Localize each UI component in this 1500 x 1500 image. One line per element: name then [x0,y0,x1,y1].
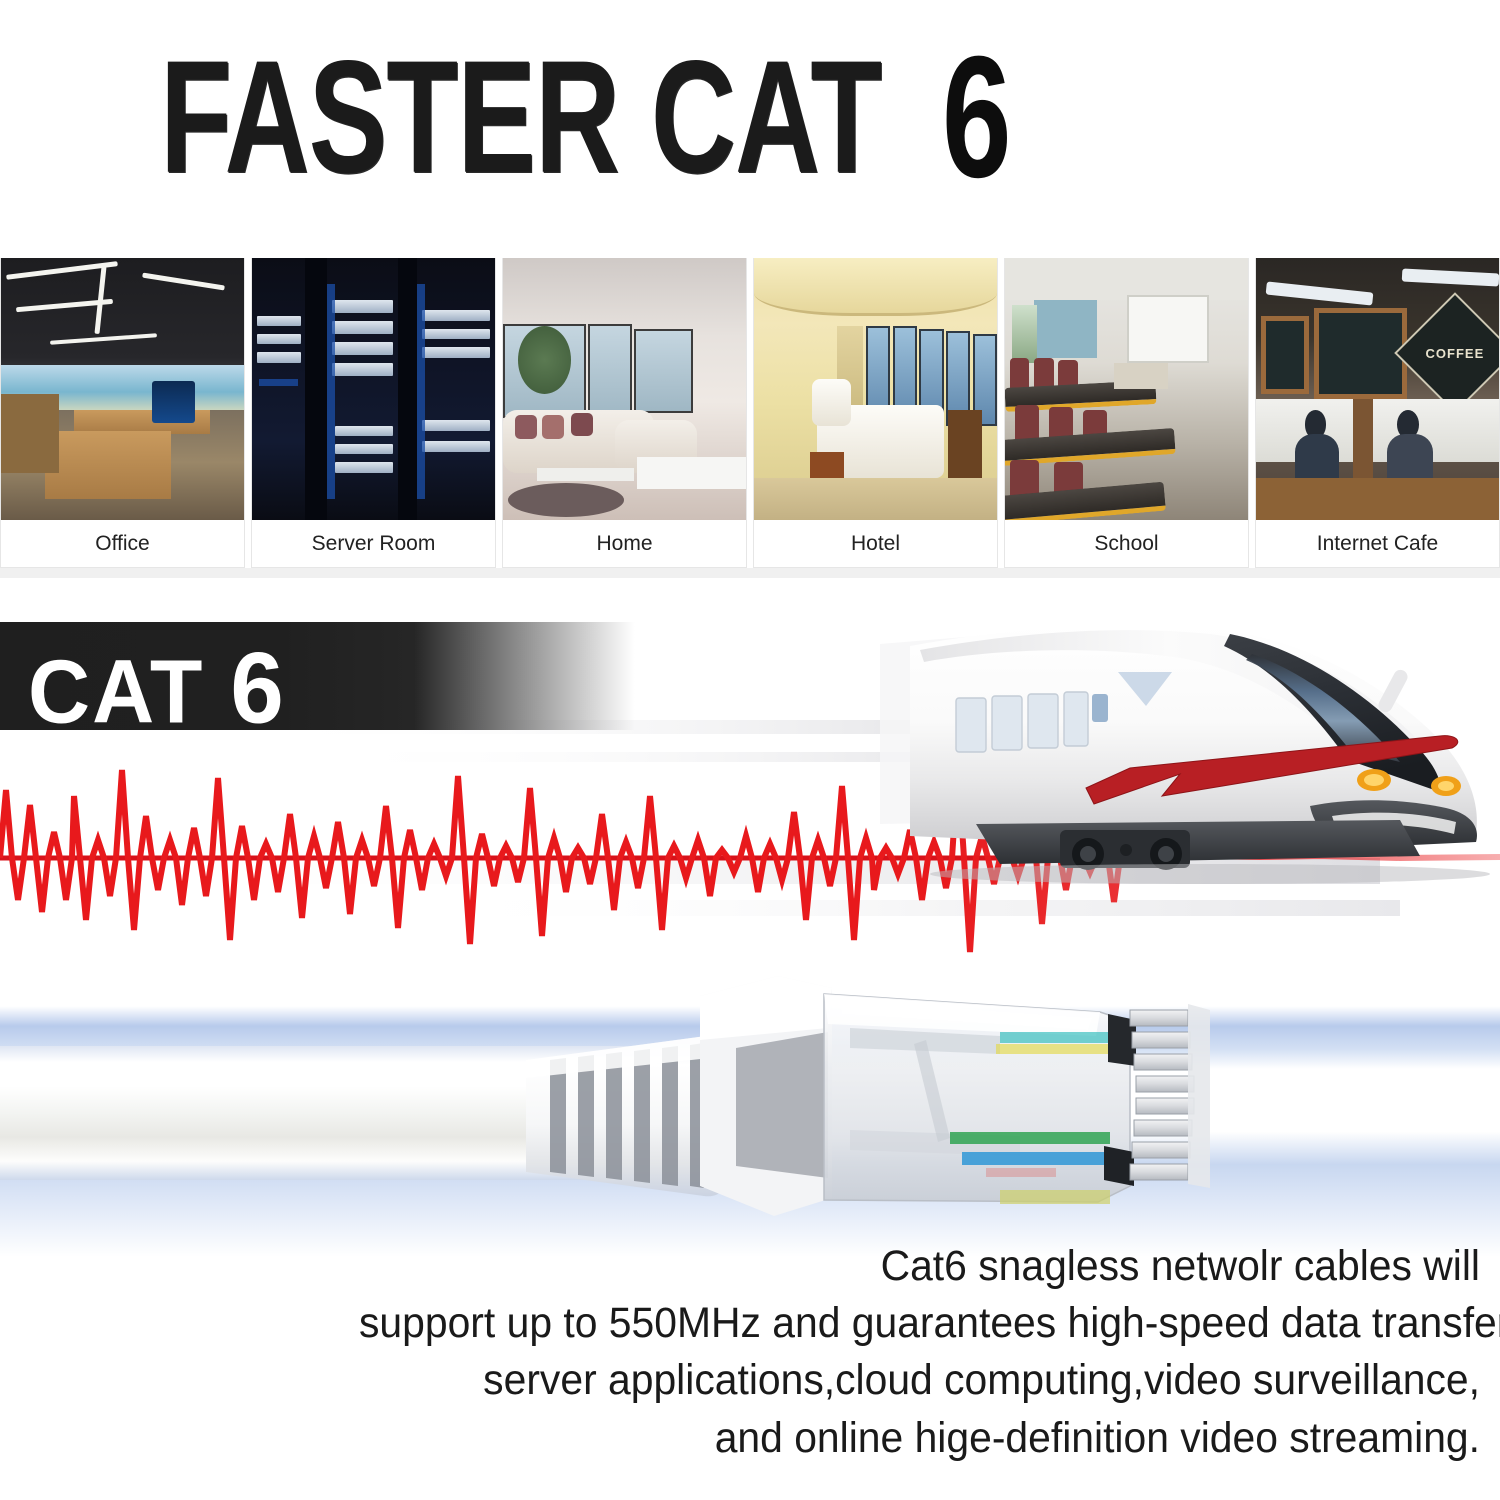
scene-card-hotel[interactable]: Hotel [753,258,998,568]
description-line-3: server applications,cloud computing,vide… [359,1352,1480,1409]
scene-photo-office [1,258,244,520]
scene-caption-hotel: Hotel [754,520,997,567]
scene-caption-server-room: Server Room [252,520,495,567]
cat6-badge-label: CAT [28,641,204,745]
scene-photo-internet-cafe: COFFEE [1256,258,1499,520]
scene-photo-server-room [252,258,495,520]
page-title-number: 6 [942,31,1012,204]
scene-card-server-room[interactable]: Server Room [251,258,496,568]
scene-card-internet-cafe[interactable]: COFFEE Internet Cafe [1255,258,1500,568]
rj45-connector-illustration [700,970,1260,1240]
application-scenes-strip: Office Server Room [0,258,1500,568]
scene-caption-school: School [1005,520,1248,567]
high-speed-train-illustration [880,610,1500,900]
cafe-coffee-sign-text: COFFEE [1425,346,1484,361]
scene-card-office[interactable]: Office [0,258,245,568]
scene-photo-home [503,258,746,520]
description-line-4: and online hige-definition video streami… [359,1410,1480,1467]
scene-caption-internet-cafe: Internet Cafe [1256,520,1499,567]
scene-caption-home: Home [503,520,746,567]
scene-caption-office: Office [1,520,244,567]
strip-divider [0,568,1500,578]
cafe-coffee-sign: COFFEE [1394,293,1499,415]
scene-card-school[interactable]: School [1004,258,1249,568]
scene-photo-hotel [754,258,997,520]
scene-photo-school [1005,258,1248,520]
page-title: FASTER CAT6 [0,48,1500,188]
description-line-1: Cat6 snagless netwolr cables will [359,1238,1480,1295]
cat6-badge: CAT 6 [0,622,690,730]
product-description: Cat6 snagless netwolr cables will suppor… [359,1238,1480,1467]
scene-card-home[interactable]: Home [502,258,747,568]
description-line-2: support up to 550MHz and guarantees high… [359,1295,1480,1352]
cat6-badge-number: 6 [230,631,283,747]
page-title-text: FASTER CAT [160,38,881,198]
